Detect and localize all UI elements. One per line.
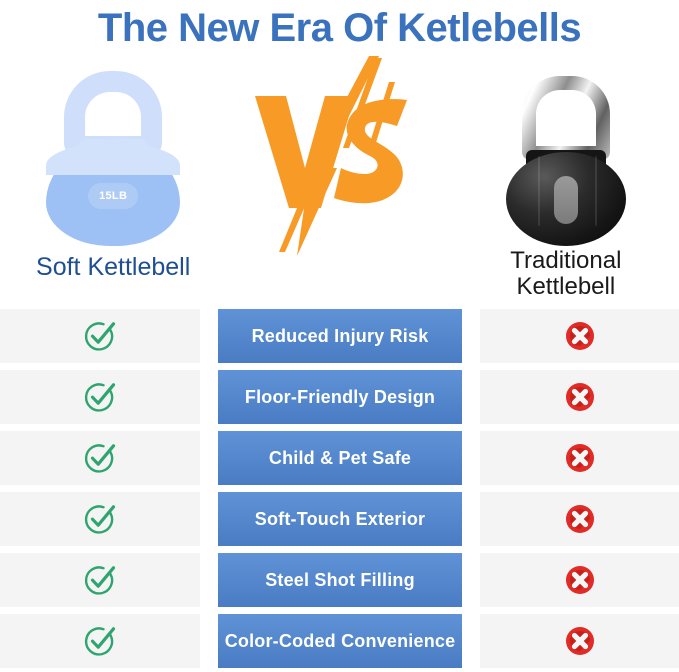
traditional-kettlebell-column: Traditional Kettlebell: [453, 56, 679, 308]
traditional-kettlebell-image: [453, 56, 679, 246]
page-title: The New Era Of Ketlebells: [0, 0, 679, 56]
feature-label: Floor-Friendly Design: [245, 387, 435, 408]
versus-column: [226, 56, 452, 308]
soft-kettlebell-support-cell: [0, 370, 200, 424]
x-circle-icon: [564, 320, 596, 352]
soft-kettlebell-column: 15LB Soft Kettlebell: [0, 56, 226, 308]
table-row: Color-Coded Convenience: [0, 614, 679, 668]
feature-label: Reduced Injury Risk: [252, 326, 429, 347]
x-circle-icon: [564, 503, 596, 535]
soft-kettlebell-image: 15LB: [0, 56, 226, 246]
traditional-kettlebell-seam-left: [538, 156, 540, 226]
traditional-kettlebell-label-line2: Kettlebell: [453, 274, 679, 300]
check-circle-icon: [83, 563, 117, 597]
soft-kettlebell-support-cell: [0, 553, 200, 607]
feature-label-button-5[interactable]: Color-Coded Convenience: [218, 614, 462, 668]
traditional-kettlebell-label-line1: Traditional: [453, 248, 679, 274]
check-circle-icon: [83, 502, 117, 536]
table-row: Child & Pet Safe: [0, 431, 679, 485]
traditional-kettlebell-support-cell: [480, 431, 679, 485]
feature-comparison-list: Reduced Injury Risk Floor-Friendly Desig…: [0, 308, 679, 668]
soft-kettlebell-support-cell: [0, 309, 200, 363]
feature-label-button-2[interactable]: Child & Pet Safe: [218, 431, 462, 485]
x-circle-icon: [564, 625, 596, 657]
check-circle-icon: [83, 624, 117, 658]
feature-label-button-3[interactable]: Soft-Touch Exterior: [218, 492, 462, 546]
traditional-kettlebell-support-cell: [480, 370, 679, 424]
lightning-bolt-icon: [239, 56, 439, 256]
soft-kettlebell-support-cell: [0, 431, 200, 485]
versus-graphic: [226, 56, 452, 256]
traditional-kettlebell-grip-pad: [554, 176, 578, 224]
traditional-kettlebell-seam-right: [595, 156, 597, 226]
table-row: Steel Shot Filling: [0, 553, 679, 607]
soft-kettlebell-support-cell: [0, 492, 200, 546]
soft-kettlebell-label: Soft Kettlebell: [0, 254, 226, 282]
soft-kettlebell-support-cell: [0, 614, 200, 668]
table-row: Soft-Touch Exterior: [0, 492, 679, 546]
feature-label-button-0[interactable]: Reduced Injury Risk: [218, 309, 462, 363]
check-circle-icon: [83, 319, 117, 353]
table-row: Reduced Injury Risk: [0, 309, 679, 363]
traditional-kettlebell-support-cell: [480, 492, 679, 546]
check-circle-icon: [83, 380, 117, 414]
feature-label-button-4[interactable]: Steel Shot Filling: [218, 553, 462, 607]
traditional-kettlebell-label: Traditional Kettlebell: [453, 248, 679, 301]
traditional-kettlebell-support-cell: [480, 553, 679, 607]
x-circle-icon: [564, 564, 596, 596]
check-circle-icon: [83, 441, 117, 475]
feature-label: Soft-Touch Exterior: [255, 509, 425, 530]
x-circle-icon: [564, 381, 596, 413]
traditional-kettlebell-handle: [522, 76, 610, 160]
feature-label: Steel Shot Filling: [265, 570, 415, 591]
traditional-kettlebell-support-cell: [480, 309, 679, 363]
soft-kettlebell-weight-badge: 15LB: [88, 183, 138, 209]
feature-label-button-1[interactable]: Floor-Friendly Design: [218, 370, 462, 424]
traditional-kettlebell-support-cell: [480, 614, 679, 668]
hero-comparison-header: 15LB Soft Kettlebell: [0, 56, 679, 308]
x-circle-icon: [564, 442, 596, 474]
feature-label: Color-Coded Convenience: [225, 631, 456, 652]
feature-label: Child & Pet Safe: [269, 448, 411, 469]
table-row: Floor-Friendly Design: [0, 370, 679, 424]
